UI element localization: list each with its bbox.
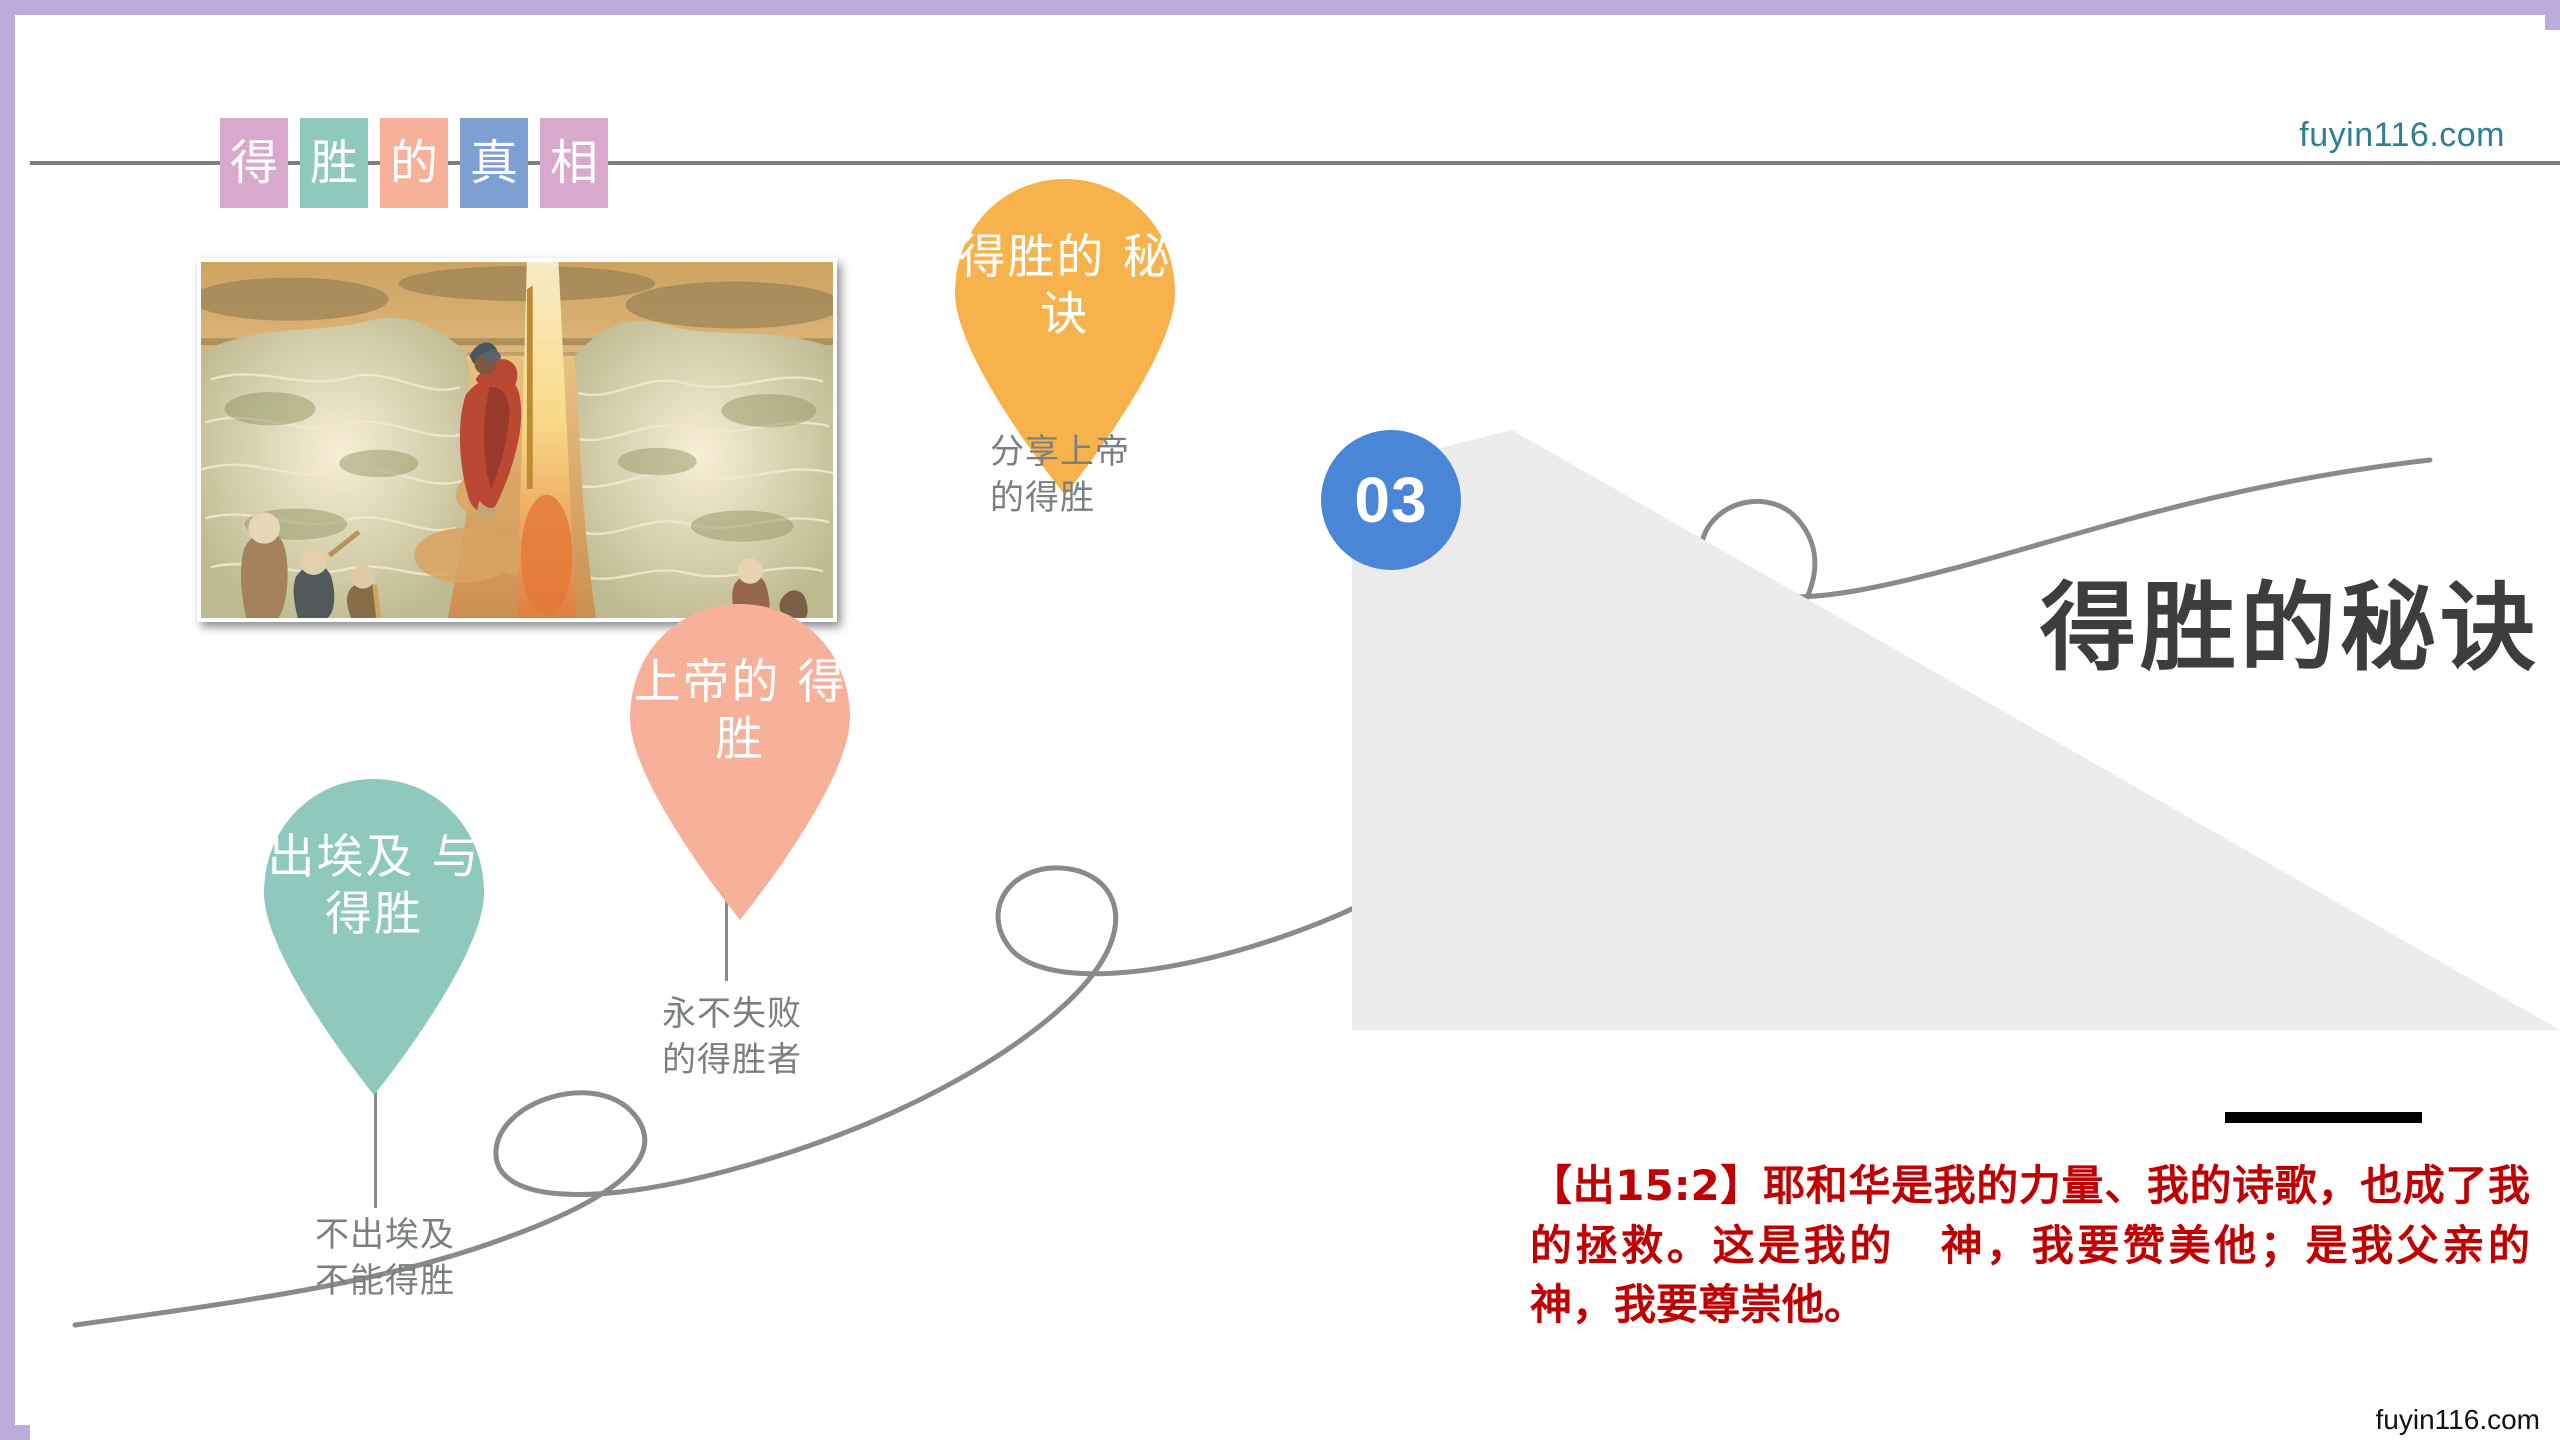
marker-caption-3: 分享上帝 的得胜 [990, 430, 1130, 522]
marker-caption-1: 不出埃及 不能得胜 [315, 1213, 455, 1305]
marker-caption-2: 永不失败 的得胜者 [662, 992, 802, 1084]
section-number-badge: 03 [1321, 430, 1461, 570]
title-tile-4: 真 [460, 118, 528, 208]
title-tile-3: 的 [380, 118, 448, 208]
marker-stem-1 [374, 1092, 377, 1208]
marker-balloon-label-1: 出埃及 与得胜 [249, 829, 499, 944]
heading-underline [2225, 1112, 2422, 1123]
marker-balloon-2[interactable]: 上帝的 得胜 [615, 600, 865, 920]
long-shadow-shape [1352, 430, 2560, 1030]
site-link-top[interactable]: fuyin116.com [2299, 116, 2505, 155]
scripture-verse: 【出15:2】耶和华是我的力量、我的诗歌，也成了我的拯救。这是我的 神，我要赞美… [1530, 1156, 2530, 1335]
number-badge-shadow [1352, 430, 2560, 1030]
marker-balloon-label-2: 上帝的 得胜 [615, 654, 865, 769]
slide-frame: 得 胜 的 真 相 fuyin116.com [0, 0, 2560, 1440]
pin-shape-2: 上帝的 得胜 [615, 600, 865, 920]
title-tile-5: 相 [540, 118, 608, 208]
page-title: 得 胜 的 真 相 [220, 118, 608, 208]
moses-parting-red-sea-image [197, 258, 837, 622]
pin-shape-1: 出埃及 与得胜 [249, 775, 499, 1095]
slide-canvas: 得 胜 的 真 相 fuyin116.com [30, 30, 2560, 1440]
title-tile-1: 得 [220, 118, 288, 208]
marker-balloon-1[interactable]: 出埃及 与得胜 [249, 775, 499, 1095]
site-watermark-bottom: fuyin116.com [2376, 1404, 2540, 1436]
title-tile-2: 胜 [300, 118, 368, 208]
main-heading: 得胜的秘诀 [1150, 550, 2540, 689]
red-sea-painting-art [201, 262, 833, 618]
marker-balloon-label-3: 得胜的 秘诀 [940, 229, 1190, 344]
